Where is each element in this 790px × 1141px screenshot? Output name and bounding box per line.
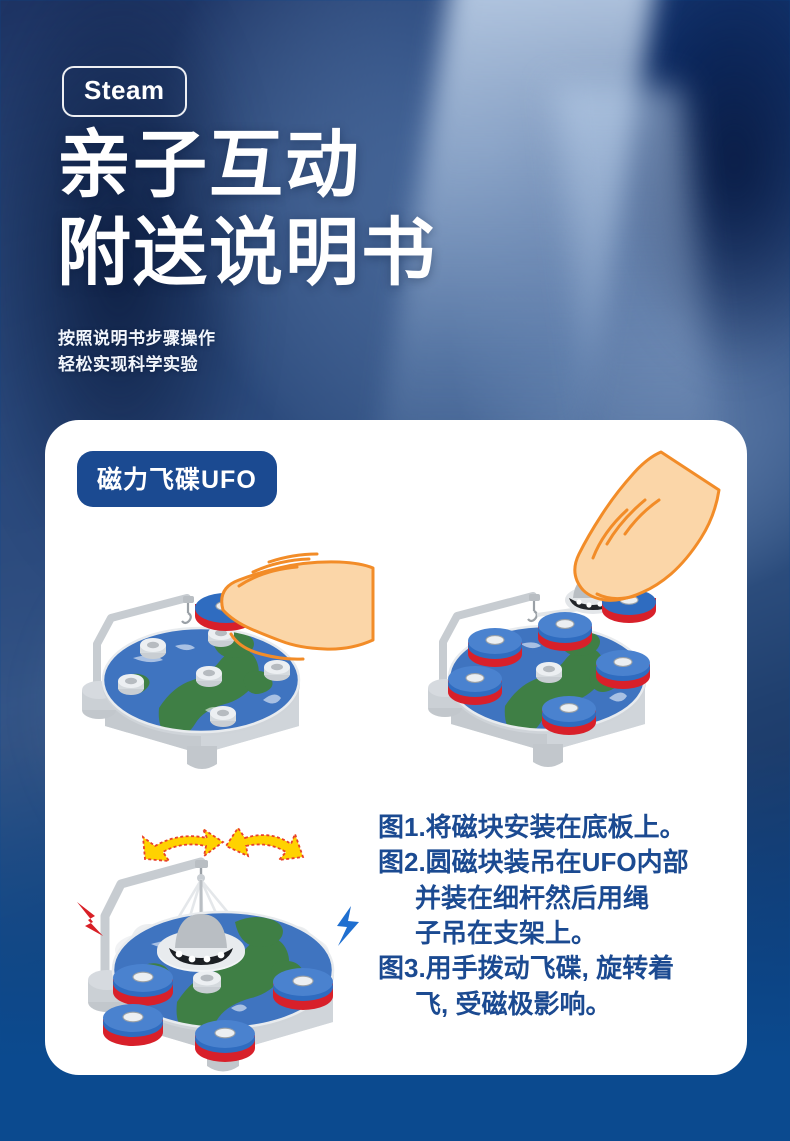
lightning-bolt-blue: [337, 906, 359, 946]
page-subtitle: 按照说明书步骤操作 轻松实现科学实验: [58, 326, 216, 377]
step-line-6: 飞, 受磁极影响。: [378, 987, 728, 1022]
step-line-4: 子吊在支架上。: [378, 916, 728, 951]
lightning-bolt-red: [77, 902, 103, 936]
step-line-5: 图3.用手拨动飞碟, 旋转着: [378, 951, 728, 986]
illustration-step2: [397, 440, 747, 790]
hand-illustration: [575, 452, 719, 600]
product-banner: Steam 亲子互动 附送说明书 按照说明书步骤操作 轻松实现科学实验 磁力飞碟…: [0, 0, 790, 1141]
instruction-steps: 图1.将磁块安装在底板上。 图2.圆磁块装吊在UFO内部 并装在细杆然后用绳 子…: [378, 810, 728, 1022]
illustration-step3: [55, 780, 395, 1070]
page-title-line1: 亲子互动: [57, 128, 361, 202]
subtitle-line1: 按照说明书步骤操作: [58, 326, 216, 352]
step-line-1: 图1.将磁块安装在底板上。: [378, 810, 728, 845]
instruction-card: 磁力飞碟UFO: [45, 420, 747, 1075]
step-line-3: 并装在细杆然后用绳: [378, 881, 728, 916]
product-name-chip: 磁力飞碟UFO: [77, 451, 277, 507]
rotation-arrow-left: [143, 829, 223, 861]
subtitle-line2: 轻松实现科学实验: [58, 352, 216, 378]
illustration-step1: [63, 540, 413, 790]
step-line-2: 图2.圆磁块装吊在UFO内部: [378, 845, 728, 880]
rotation-arrow-right: [226, 828, 303, 860]
page-title-line2: 附送说明书: [57, 216, 437, 290]
steam-badge: Steam: [62, 66, 187, 117]
